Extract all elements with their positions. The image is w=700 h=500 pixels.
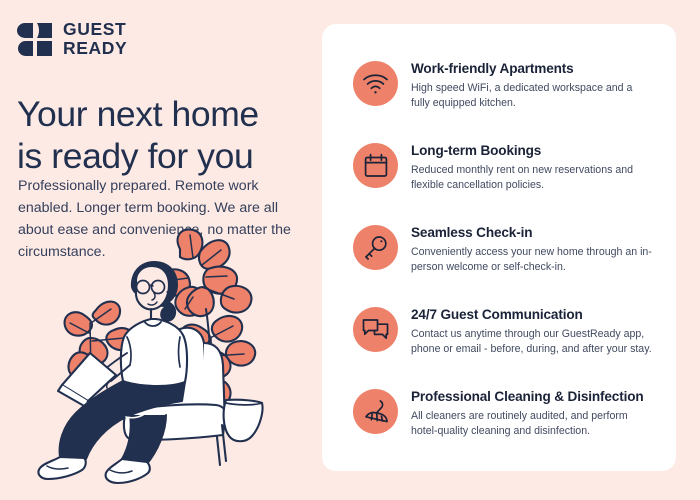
broom-icon bbox=[353, 389, 398, 434]
feature-item-long-term-bookings[interactable]: Long-term Bookings Reduced monthly rent … bbox=[353, 142, 653, 193]
feature-text: Seamless Check-in Conveniently access yo… bbox=[411, 224, 653, 275]
feature-item-work-friendly-apartments[interactable]: Work-friendly Apartments High speed WiFi… bbox=[353, 60, 653, 111]
feature-item-guest-communication[interactable]: 24/7 Guest Communication Contact us anyt… bbox=[353, 306, 653, 357]
guestready-logo-mark-icon bbox=[17, 23, 53, 56]
feature-item-professional-cleaning[interactable]: Professional Cleaning & Disinfection All… bbox=[353, 388, 653, 439]
features-card: Work-friendly Apartments High speed WiFi… bbox=[322, 24, 676, 471]
feature-text: Long-term Bookings Reduced monthly rent … bbox=[411, 142, 653, 193]
feature-text: 24/7 Guest Communication Contact us anyt… bbox=[411, 306, 653, 357]
feature-text: Professional Cleaning & Disinfection All… bbox=[411, 388, 653, 439]
feature-title: Professional Cleaning & Disinfection bbox=[411, 389, 653, 406]
feature-title: Seamless Check-in bbox=[411, 225, 653, 242]
feature-text: Work-friendly Apartments High speed WiFi… bbox=[411, 60, 653, 111]
brand-name-line2: READY bbox=[63, 40, 127, 58]
feature-description: All cleaners are routinely audited, and … bbox=[411, 409, 653, 439]
wifi-icon bbox=[353, 61, 398, 106]
feature-description: High speed WiFi, a dedicated workspace a… bbox=[411, 81, 653, 111]
headline-line-1: Your next home bbox=[17, 94, 317, 136]
brand-logo[interactable]: GUEST READY bbox=[17, 21, 127, 57]
page-title: Your next home is ready for you bbox=[17, 94, 317, 178]
feature-item-seamless-check-in[interactable]: Seamless Check-in Conveniently access yo… bbox=[353, 224, 653, 275]
feature-description: Reduced monthly rent on new reservations… bbox=[411, 163, 653, 193]
brand-wordmark: GUEST READY bbox=[63, 21, 127, 57]
chat-bubbles-icon bbox=[353, 307, 398, 352]
marketing-infographic: GUEST READY Your next home is ready for … bbox=[0, 0, 700, 500]
feature-description: Conveniently access your new home throug… bbox=[411, 245, 653, 275]
hero-column: GUEST READY Your next home is ready for … bbox=[0, 0, 322, 500]
brand-name-line1: GUEST bbox=[63, 21, 127, 39]
headline-line-2: is ready for you bbox=[17, 136, 317, 178]
feature-description: Contact us anytime through our GuestRead… bbox=[411, 327, 653, 357]
hero-illustration bbox=[30, 225, 320, 495]
feature-title: Long-term Bookings bbox=[411, 143, 653, 160]
key-icon bbox=[353, 225, 398, 270]
feature-title: Work-friendly Apartments bbox=[411, 61, 653, 78]
calendar-icon bbox=[353, 143, 398, 188]
feature-title: 24/7 Guest Communication bbox=[411, 307, 653, 324]
